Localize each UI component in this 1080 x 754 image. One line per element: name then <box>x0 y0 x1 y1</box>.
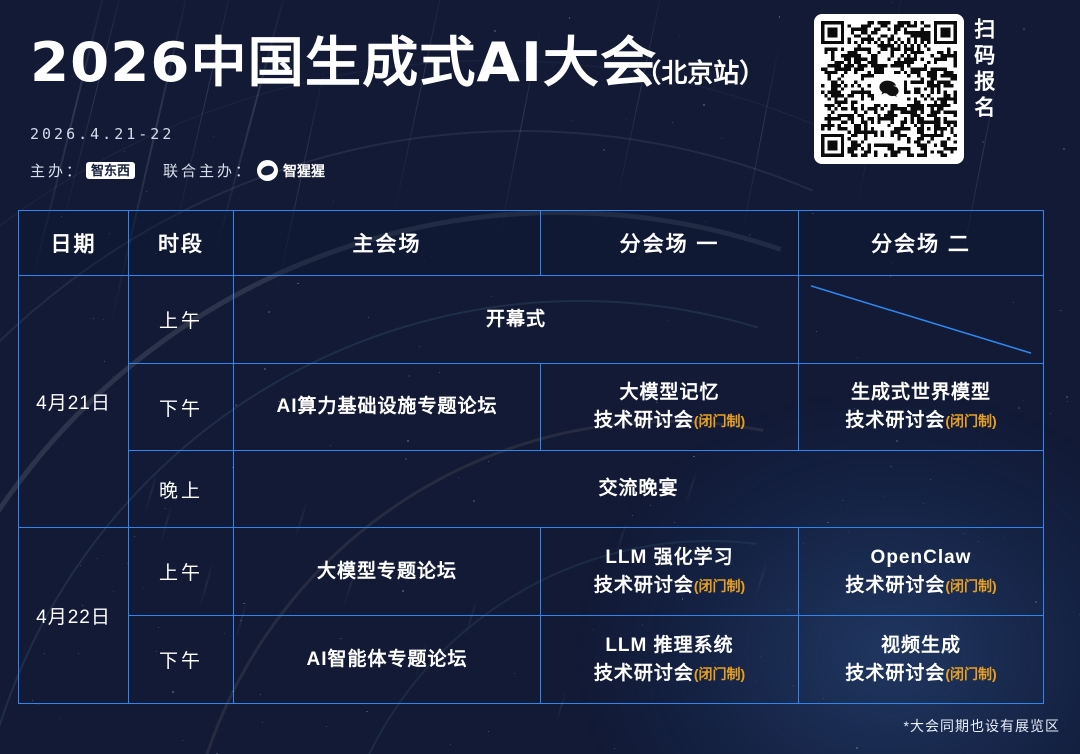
qr-registration-block[interactable]: 扫码报名 <box>814 14 1064 164</box>
session-title-line2: 技术研讨会(闭门制) <box>803 660 1039 688</box>
table-row: 4月21日 上午 开幕式 <box>19 276 1044 364</box>
session-subtitle: 技术研讨会 <box>594 663 694 684</box>
qr-caption: 扫码报名 <box>972 14 995 122</box>
event-date: 2026.4.21-22 <box>30 125 174 143</box>
footnote: *大会同期也设有展览区 <box>904 716 1060 736</box>
slot-cell-day1-afternoon: 下午 <box>129 364 234 451</box>
closed-door-tag: (闭门制) <box>694 666 745 682</box>
session-title-line1: 视频生成 <box>803 632 1039 660</box>
session-subtitle: 技术研讨会 <box>594 410 694 431</box>
column-header-sub-venue-1: 分会场 一 <box>541 211 799 276</box>
closed-door-tag: (闭门制) <box>945 413 996 429</box>
session-day2-pm-sub2: 视频生成 技术研讨会(闭门制) <box>799 616 1044 704</box>
session-opening-ceremony: 开幕式 <box>234 276 799 364</box>
session-day1-pm-sub1: 大模型记忆 技术研讨会(闭门制) <box>541 364 799 451</box>
zhixingxing-logo: 智猩猩 <box>257 160 325 181</box>
cohost-label: 联合主办： <box>163 160 253 181</box>
session-title-line2: 技术研讨会(闭门制) <box>545 660 794 688</box>
date-cell-day1: 4月21日 <box>19 276 129 528</box>
session-title-line2: 技术研讨会(闭门制) <box>803 407 1039 435</box>
session-day2-am-sub2: OpenClaw 技术研讨会(闭门制) <box>799 528 1044 616</box>
slot-cell-day1-evening: 晚上 <box>129 451 234 528</box>
table-row: 下午 AI智能体专题论坛 LLM 推理系统 技术研讨会(闭门制) 视频生成 技术… <box>19 616 1044 704</box>
session-day2-pm-main: AI智能体专题论坛 <box>234 616 541 704</box>
wechat-bubble-glyph <box>877 77 901 101</box>
page-title: 2026中国生成式AI大会 <box>30 36 657 90</box>
session-title-line1: LLM 强化学习 <box>545 544 794 572</box>
poster-header: 2026中国生成式AI大会 （北京站） 2026.4.21-22 主办： 智东西… <box>0 0 1080 205</box>
session-day2-pm-sub1: LLM 推理系统 技术研讨会(闭门制) <box>541 616 799 704</box>
schedule-table-wrapper: 日期 时段 主会场 分会场 一 分会场 二 4月21日 上午 开幕式 <box>18 210 1043 704</box>
session-subtitle: 技术研讨会 <box>845 575 945 596</box>
diagonal-strike-icon <box>799 276 1043 363</box>
session-title-line1: LLM 推理系统 <box>545 632 794 660</box>
column-header-main-venue: 主会场 <box>234 211 541 276</box>
session-title-line1: 大模型记忆 <box>545 379 794 407</box>
slot-cell-day1-morning: 上午 <box>129 276 234 364</box>
zhixingxing-logo-text: 智猩猩 <box>283 161 325 181</box>
zhidongxi-logo-text: 智东西 <box>91 164 130 177</box>
session-title-line2: 技术研讨会(闭门制) <box>545 407 794 435</box>
empty-cell-day1-morning-sub2 <box>799 276 1044 364</box>
session-day2-am-main: 大模型专题论坛 <box>234 528 541 616</box>
session-title-line2: 技术研讨会(闭门制) <box>545 572 794 600</box>
table-row: 晚上 交流晚宴 <box>19 451 1044 528</box>
session-subtitle: 技术研讨会 <box>845 663 945 684</box>
qr-code[interactable] <box>814 14 964 164</box>
zhidongxi-logo: 智东西 <box>86 162 135 179</box>
title-row: 2026中国生成式AI大会 （北京站） <box>30 36 765 90</box>
session-subtitle: 技术研讨会 <box>845 410 945 431</box>
organizer-line: 主办： 智东西 联合主办： 智猩猩 <box>30 160 325 181</box>
session-title-line1: OpenClaw <box>803 544 1039 572</box>
closed-door-tag: (闭门制) <box>694 578 745 594</box>
table-row: 4月22日 上午 大模型专题论坛 LLM 强化学习 技术研讨会(闭门制) Ope… <box>19 528 1044 616</box>
closed-door-tag: (闭门制) <box>694 413 745 429</box>
host-label: 主办： <box>30 160 84 181</box>
session-title-line2: 技术研讨会(闭门制) <box>803 572 1039 600</box>
table-row: 下午 AI算力基础设施专题论坛 大模型记忆 技术研讨会(闭门制) 生成式世界模型… <box>19 364 1044 451</box>
session-gala-dinner: 交流晚宴 <box>234 451 1044 528</box>
session-subtitle: 技术研讨会 <box>594 575 694 596</box>
closed-door-tag: (闭门制) <box>945 578 996 594</box>
conference-poster: 2026中国生成式AI大会 （北京站） 2026.4.21-22 主办： 智东西… <box>0 0 1080 754</box>
gorilla-icon <box>257 160 278 181</box>
wechat-icon <box>874 74 904 104</box>
session-title-line1: 生成式世界模型 <box>803 379 1039 407</box>
slot-cell-day2-afternoon: 下午 <box>129 616 234 704</box>
closed-door-tag: (闭门制) <box>945 666 996 682</box>
column-header-date: 日期 <box>19 211 129 276</box>
schedule-table-head: 日期 时段 主会场 分会场 一 分会场 二 <box>19 211 1044 276</box>
column-header-sub-venue-2: 分会场 二 <box>799 211 1044 276</box>
schedule-table-body: 4月21日 上午 开幕式 下午 AI算力基础设施专题论坛 大模型记忆 <box>19 276 1044 704</box>
date-cell-day2: 4月22日 <box>19 528 129 704</box>
session-day1-pm-main: AI算力基础设施专题论坛 <box>234 364 541 451</box>
column-header-slot: 时段 <box>129 211 234 276</box>
slot-cell-day2-morning: 上午 <box>129 528 234 616</box>
session-day1-pm-sub2: 生成式世界模型 技术研讨会(闭门制) <box>799 364 1044 451</box>
session-day2-am-sub1: LLM 强化学习 技术研讨会(闭门制) <box>541 528 799 616</box>
table-header-row: 日期 时段 主会场 分会场 一 分会场 二 <box>19 211 1044 276</box>
schedule-table: 日期 时段 主会场 分会场 一 分会场 二 4月21日 上午 开幕式 <box>18 210 1044 704</box>
